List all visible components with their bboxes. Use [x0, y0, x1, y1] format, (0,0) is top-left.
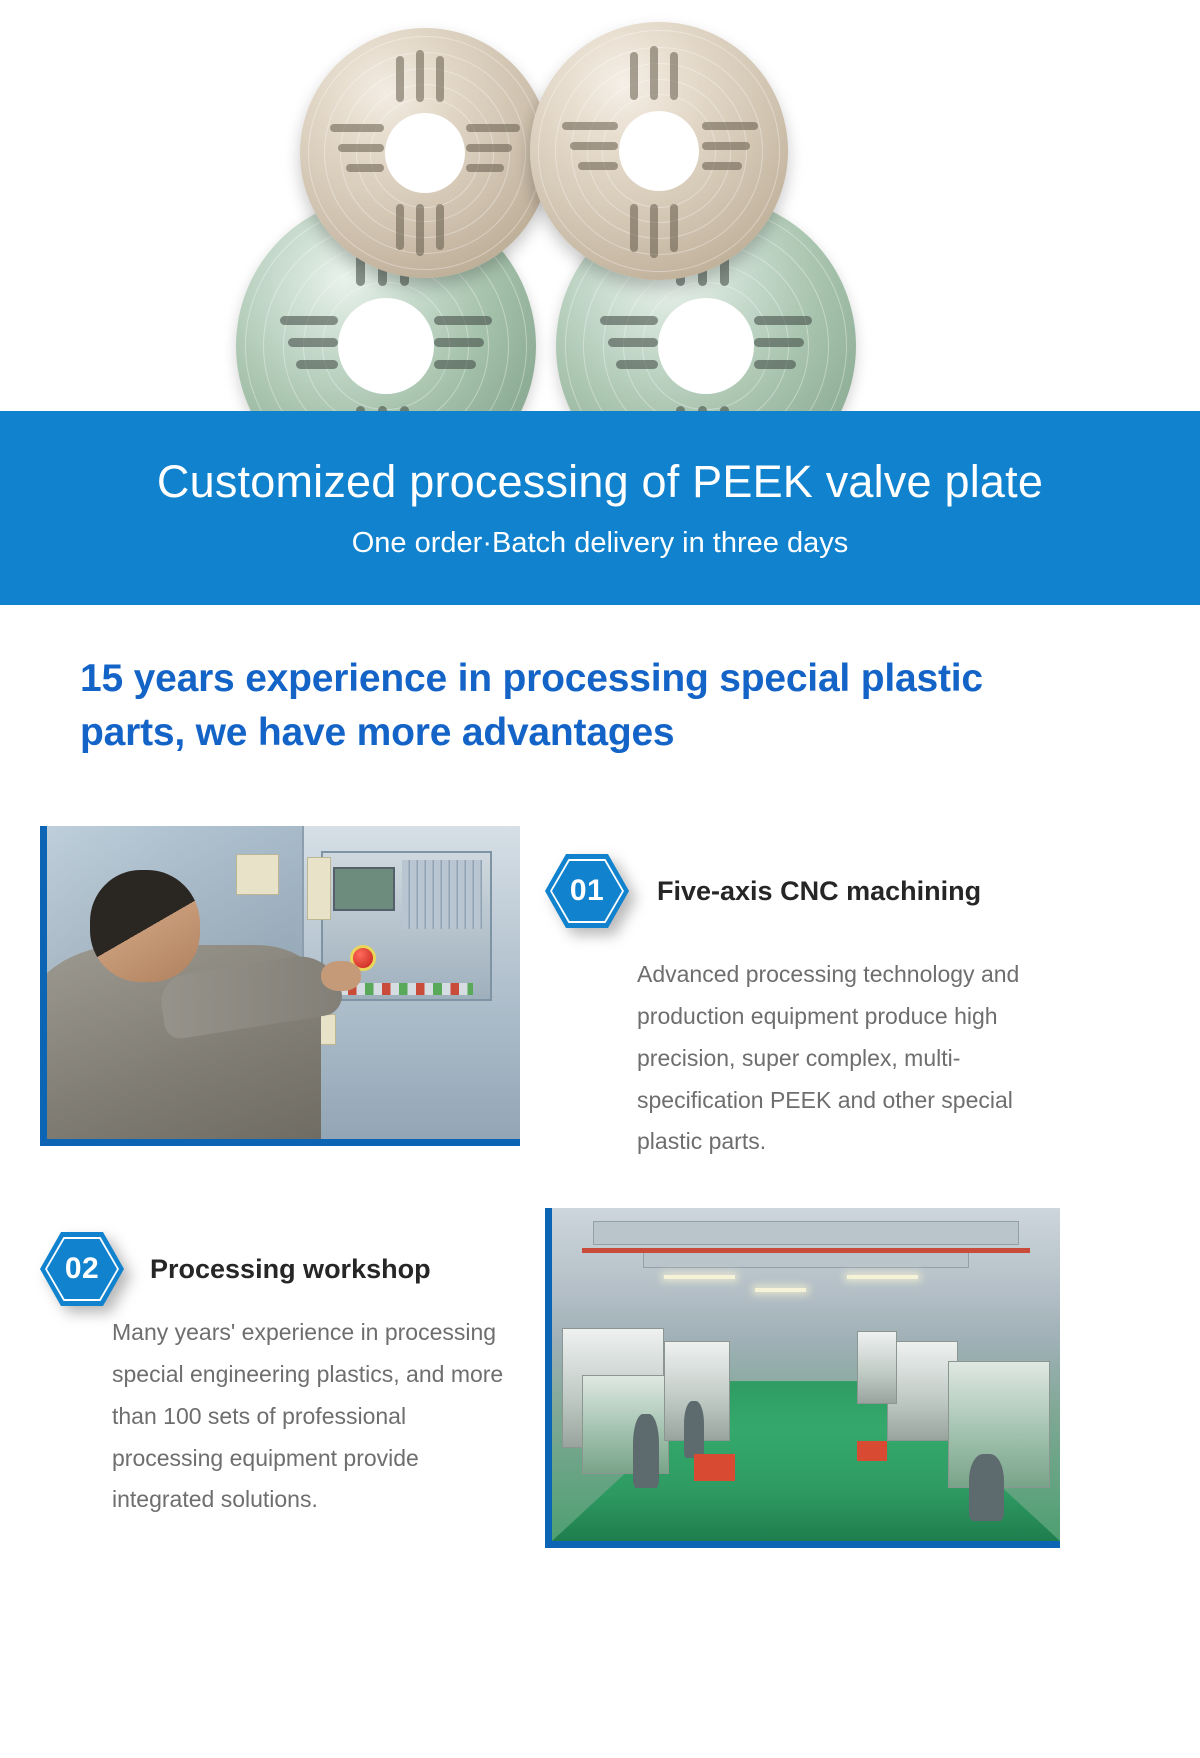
valve-plate-beige-right — [530, 22, 788, 280]
feature-block-01: 01 Five-axis CNC machining Advanced proc… — [0, 826, 1200, 1186]
feature-02-title: Processing workshop — [150, 1254, 431, 1285]
feature-02-header: 02 Processing workshop — [40, 1232, 431, 1306]
cnc-operator-photo — [47, 826, 520, 1139]
valve-plate-beige-left — [300, 28, 550, 278]
feature-02-image-frame — [545, 1208, 1060, 1548]
feature-01-image-frame — [40, 826, 520, 1146]
feature-01-body: Advanced processing technology and produ… — [637, 954, 1062, 1163]
hexagon-badge-02: 02 — [40, 1232, 124, 1306]
feature-02-body: Many years' experience in processing spe… — [112, 1312, 522, 1521]
feature-01-header: 01 Five-axis CNC machining — [545, 854, 981, 928]
hexagon-badge-01: 01 — [545, 854, 629, 928]
product-photo-valve-plates — [0, 0, 1200, 470]
workshop-photo — [552, 1208, 1060, 1541]
banner-title: Customized processing of PEEK valve plat… — [157, 456, 1043, 508]
feature-01-title: Five-axis CNC machining — [657, 876, 981, 907]
hero-section: Customized processing of PEEK valve plat… — [0, 0, 1200, 605]
badge-number: 01 — [570, 874, 604, 908]
hero-banner: Customized processing of PEEK valve plat… — [0, 411, 1200, 605]
banner-subtitle: One order·Batch delivery in three days — [352, 527, 848, 560]
badge-number: 02 — [65, 1252, 99, 1286]
feature-block-02: 02 Processing workshop Many years' exper… — [0, 1208, 1200, 1708]
section-heading: 15 years experience in processing specia… — [80, 652, 1090, 760]
